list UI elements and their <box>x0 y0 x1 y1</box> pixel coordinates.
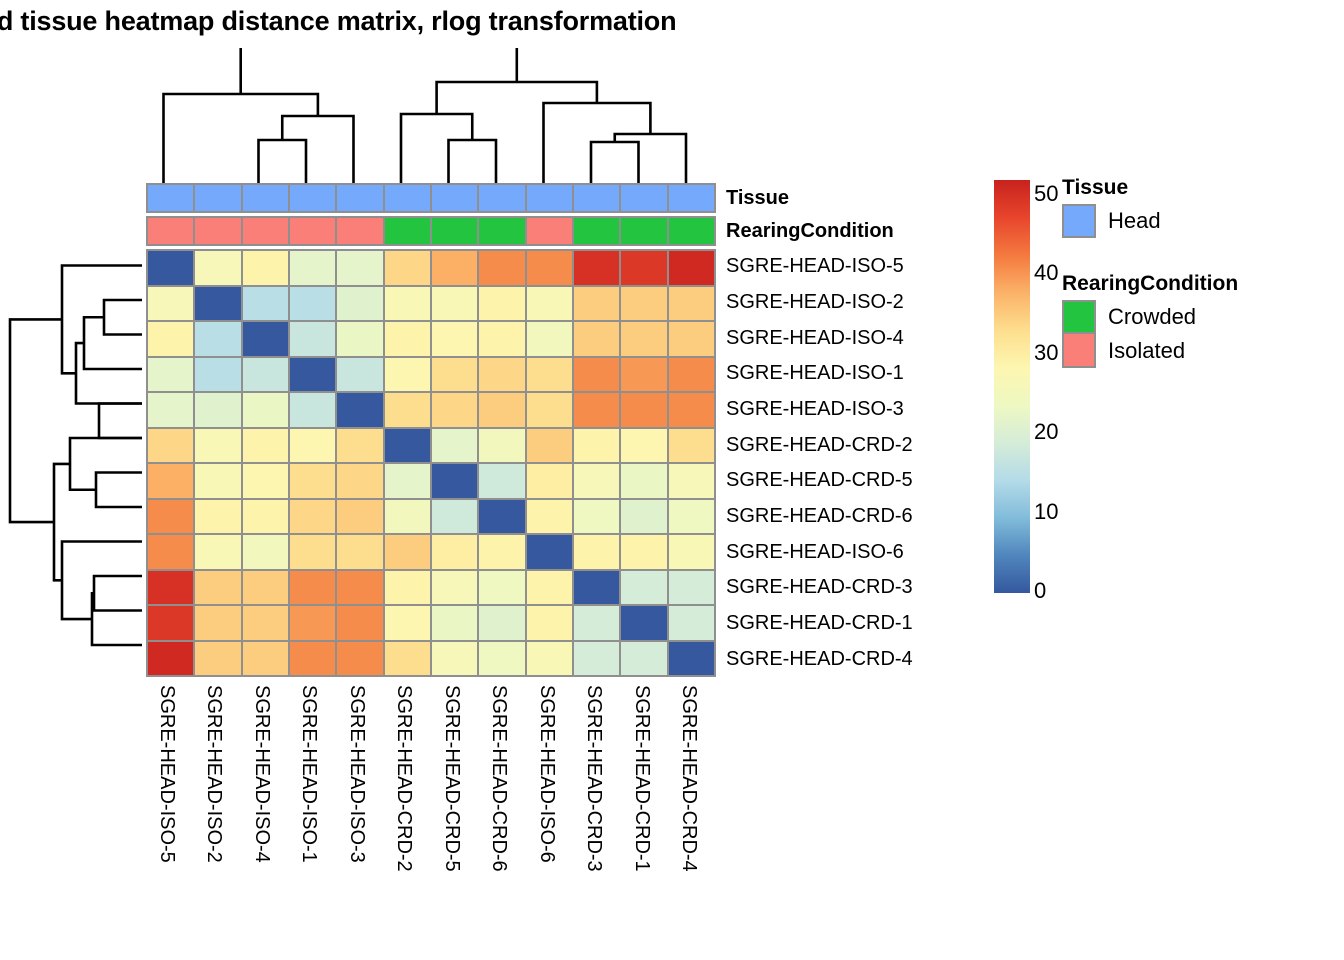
heatmap-cell[interactable] <box>337 429 382 463</box>
legend-swatch-head <box>1062 204 1096 238</box>
heatmap-cell[interactable] <box>385 464 430 498</box>
heatmap-cell[interactable] <box>574 606 619 640</box>
annotation-cell-tissue-1 <box>195 185 240 211</box>
annotation-cell-tissue-10 <box>621 185 666 211</box>
row-label: SGRE-HEAD-CRD-6 <box>726 499 1026 535</box>
heatmap-cell[interactable] <box>243 642 288 676</box>
legend-label-crowded: Crowded <box>1108 304 1196 330</box>
colorbar-tick-label: 50 <box>1034 181 1058 207</box>
heatmap-cell[interactable] <box>527 571 572 605</box>
annotation-cell-tissue-9 <box>574 185 619 211</box>
annotation-cell-tissue-2 <box>243 185 288 211</box>
heatmap-cell[interactable] <box>669 393 714 427</box>
colorbar <box>994 180 1030 593</box>
heatmap-cell[interactable] <box>337 500 382 534</box>
heatmap-cell[interactable] <box>385 322 430 356</box>
page-title: ad tissue heatmap distance matrix, rlog … <box>0 6 676 37</box>
heatmap-cell[interactable] <box>669 429 714 463</box>
annotation-bar-rearing-condition <box>146 216 716 246</box>
heatmap-cell[interactable] <box>195 287 240 321</box>
heatmap-cell[interactable] <box>290 464 335 498</box>
heatmap-cell[interactable] <box>337 535 382 569</box>
heatmap-cell[interactable] <box>290 251 335 285</box>
heatmap-cell[interactable] <box>385 606 430 640</box>
heatmap-cell[interactable] <box>243 322 288 356</box>
column-label-slot: SGRE-HEAD-ISO-4 <box>241 681 289 951</box>
annotation-cell-rearing-1 <box>195 218 240 244</box>
heatmap-cell[interactable] <box>527 322 572 356</box>
heatmap-cell[interactable] <box>527 251 572 285</box>
column-label: SGRE-HEAD-ISO-1 <box>297 685 320 863</box>
heatmap-cell[interactable] <box>337 464 382 498</box>
heatmap-cell[interactable] <box>527 358 572 392</box>
heatmap-cell[interactable] <box>432 535 477 569</box>
colorbar-tick-label: 20 <box>1034 419 1058 445</box>
annotation-cell-tissue-3 <box>290 185 335 211</box>
heatmap-cell[interactable] <box>479 464 524 498</box>
heatmap-cell[interactable] <box>290 393 335 427</box>
annotation-cell-rearing-0 <box>148 218 193 244</box>
heatmap-cell[interactable] <box>195 535 240 569</box>
heatmap-cell[interactable] <box>574 322 619 356</box>
heatmap-cell[interactable] <box>574 571 619 605</box>
heatmap-cell[interactable] <box>195 322 240 356</box>
heatmap-cell[interactable] <box>669 571 714 605</box>
heatmap-cell[interactable] <box>621 429 666 463</box>
heatmap-cell[interactable] <box>669 322 714 356</box>
row-label: SGRE-HEAD-ISO-3 <box>726 392 1026 428</box>
heatmap-cell[interactable] <box>337 287 382 321</box>
legend-tissue: Tissue Head <box>1062 176 1161 238</box>
heatmap-cell[interactable] <box>479 535 524 569</box>
row-label: SGRE-HEAD-CRD-3 <box>726 570 1026 606</box>
column-label-slot: SGRE-HEAD-ISO-6 <box>526 681 574 951</box>
heatmap-cell[interactable] <box>527 464 572 498</box>
heatmap-cell[interactable] <box>574 393 619 427</box>
row-label: SGRE-HEAD-ISO-5 <box>726 249 1026 285</box>
heatmap-cell[interactable] <box>385 251 430 285</box>
heatmap-cell[interactable] <box>669 251 714 285</box>
heatmap-cell[interactable] <box>621 571 666 605</box>
heatmap-cell[interactable] <box>148 500 193 534</box>
heatmap-cell[interactable] <box>621 606 666 640</box>
heatmap-cell[interactable] <box>148 429 193 463</box>
row-label: SGRE-HEAD-CRD-5 <box>726 463 1026 499</box>
colorbar-tick-label: 40 <box>1034 260 1058 286</box>
heatmap-cell[interactable] <box>432 642 477 676</box>
colorbar-ticks: 50403020100 <box>1034 180 1094 593</box>
heatmap-cell[interactable] <box>574 287 619 321</box>
legend-label-isolated: Isolated <box>1108 338 1185 364</box>
heatmap-cell[interactable] <box>337 358 382 392</box>
heatmap-cell[interactable] <box>432 393 477 427</box>
heatmap-cell[interactable] <box>527 606 572 640</box>
annotation-cell-rearing-7 <box>479 218 524 244</box>
annotation-cell-rearing-11 <box>669 218 714 244</box>
annotation-cell-tissue-6 <box>432 185 477 211</box>
column-label-slot: SGRE-HEAD-ISO-1 <box>289 681 337 951</box>
heatmap-cell[interactable] <box>432 251 477 285</box>
heatmap-cell[interactable] <box>479 393 524 427</box>
heatmap-cell[interactable] <box>574 500 619 534</box>
heatmap-cell[interactable] <box>195 464 240 498</box>
heatmap-cell[interactable] <box>290 429 335 463</box>
heatmap-cell[interactable] <box>527 500 572 534</box>
heatmap-cell[interactable] <box>385 642 430 676</box>
heatmap-cell[interactable] <box>385 535 430 569</box>
heatmap-cell[interactable] <box>574 251 619 285</box>
heatmap-cell[interactable] <box>290 500 335 534</box>
heatmap-cell[interactable] <box>195 606 240 640</box>
heatmap-cell[interactable] <box>621 500 666 534</box>
heatmap-cell[interactable] <box>621 642 666 676</box>
heatmap-cell[interactable] <box>479 429 524 463</box>
legend-swatch-isolated <box>1062 334 1096 368</box>
heatmap-cell[interactable] <box>243 500 288 534</box>
heatmap-cell[interactable] <box>148 535 193 569</box>
heatmap-cell[interactable] <box>148 464 193 498</box>
heatmap-cell[interactable] <box>243 358 288 392</box>
row-label: SGRE-HEAD-CRD-1 <box>726 606 1026 642</box>
heatmap-cell[interactable] <box>195 393 240 427</box>
heatmap-cell[interactable] <box>243 464 288 498</box>
legend-title-tissue: Tissue <box>1062 176 1161 200</box>
heatmap-cell[interactable] <box>432 571 477 605</box>
heatmap-cell[interactable] <box>527 393 572 427</box>
annotation-cell-rearing-3 <box>290 218 335 244</box>
column-label: SGRE-HEAD-ISO-4 <box>250 685 273 863</box>
heatmap-cell[interactable] <box>290 358 335 392</box>
heatmap-cell[interactable] <box>669 287 714 321</box>
legend-item-isolated[interactable]: Isolated <box>1062 334 1238 368</box>
column-label-slot: SGRE-HEAD-ISO-3 <box>336 681 384 951</box>
heatmap-cell[interactable] <box>243 287 288 321</box>
heatmap-cell[interactable] <box>148 287 193 321</box>
column-label-slot: SGRE-HEAD-CRD-3 <box>574 681 622 951</box>
heatmap-cell[interactable] <box>621 322 666 356</box>
annotation-label-rearing-condition: RearingCondition <box>726 220 894 243</box>
heatmap-cell[interactable] <box>621 251 666 285</box>
heatmap-cell[interactable] <box>574 358 619 392</box>
column-label: SGRE-HEAD-ISO-3 <box>345 685 368 863</box>
heatmap-cell[interactable] <box>669 606 714 640</box>
heatmap-cell[interactable] <box>621 358 666 392</box>
heatmap-cell[interactable] <box>527 642 572 676</box>
legend-item-crowded[interactable]: Crowded <box>1062 300 1238 334</box>
heatmap-cell[interactable] <box>479 571 524 605</box>
annotation-cell-rearing-10 <box>621 218 666 244</box>
heatmap-cell[interactable] <box>195 571 240 605</box>
annotation-label-tissue: Tissue <box>726 187 789 210</box>
heatmap-cell[interactable] <box>527 287 572 321</box>
column-label-slot: SGRE-HEAD-CRD-1 <box>621 681 669 951</box>
column-label: SGRE-HEAD-ISO-5 <box>155 685 178 863</box>
annotation-cell-rearing-4 <box>337 218 382 244</box>
annotation-cell-tissue-5 <box>385 185 430 211</box>
column-label: SGRE-HEAD-CRD-5 <box>440 685 463 872</box>
heatmap-cell[interactable] <box>148 642 193 676</box>
row-label: SGRE-HEAD-ISO-6 <box>726 534 1026 570</box>
colorbar-tick-label: 0 <box>1034 578 1046 604</box>
heatmap-cell[interactable] <box>290 535 335 569</box>
heatmap-cell[interactable] <box>243 429 288 463</box>
colorbar-tick-label: 30 <box>1034 340 1058 366</box>
heatmap-cell[interactable] <box>290 642 335 676</box>
heatmap-cell[interactable] <box>574 535 619 569</box>
column-label-slot: SGRE-HEAD-CRD-4 <box>669 681 717 951</box>
heatmap-cell[interactable] <box>479 358 524 392</box>
row-label: SGRE-HEAD-CRD-4 <box>726 641 1026 677</box>
heatmap-cell[interactable] <box>574 464 619 498</box>
annotation-cell-tissue-7 <box>479 185 524 211</box>
heatmap-cell[interactable] <box>479 287 524 321</box>
heatmap-cell[interactable] <box>527 535 572 569</box>
row-dendrogram <box>4 248 146 678</box>
annotation-cell-tissue-4 <box>337 185 382 211</box>
row-label: SGRE-HEAD-ISO-2 <box>726 285 1026 321</box>
heatmap-cell[interactable] <box>621 535 666 569</box>
heatmap-cell[interactable] <box>385 287 430 321</box>
heatmap-cell[interactable] <box>148 358 193 392</box>
heatmap-cell[interactable] <box>290 322 335 356</box>
heatmap-cell[interactable] <box>337 606 382 640</box>
annotation-cell-rearing-5 <box>385 218 430 244</box>
heatmap-cell[interactable] <box>148 322 193 356</box>
heatmap-cell[interactable] <box>195 500 240 534</box>
heatmap-cell[interactable] <box>148 571 193 605</box>
legend-swatch-crowded <box>1062 300 1096 334</box>
heatmap-cell[interactable] <box>385 500 430 534</box>
heatmap-cell[interactable] <box>337 571 382 605</box>
column-label: SGRE-HEAD-ISO-6 <box>535 685 558 863</box>
heatmap-cell[interactable] <box>243 393 288 427</box>
heatmap-cell[interactable] <box>432 322 477 356</box>
heatmap-cell[interactable] <box>669 464 714 498</box>
annotation-cell-rearing-9 <box>574 218 619 244</box>
annotation-cell-tissue-0 <box>148 185 193 211</box>
heatmap-cell[interactable] <box>337 322 382 356</box>
column-label: SGRE-HEAD-CRD-4 <box>677 685 700 872</box>
heatmap-cell[interactable] <box>479 251 524 285</box>
heatmap-cell[interactable] <box>432 500 477 534</box>
column-label-slot: SGRE-HEAD-ISO-5 <box>146 681 194 951</box>
row-label: SGRE-HEAD-CRD-2 <box>726 427 1026 463</box>
heatmap-grid[interactable] <box>146 249 716 677</box>
annotation-cell-rearing-6 <box>432 218 477 244</box>
annotation-cell-tissue-8 <box>527 185 572 211</box>
heatmap-cell[interactable] <box>669 535 714 569</box>
heatmap-cell[interactable] <box>195 429 240 463</box>
heatmap-cell[interactable] <box>669 358 714 392</box>
legend-item-head[interactable]: Head <box>1062 204 1161 238</box>
column-labels: SGRE-HEAD-ISO-5SGRE-HEAD-ISO-2SGRE-HEAD-… <box>146 681 716 951</box>
column-dendrogram <box>140 44 720 186</box>
heatmap-cell[interactable] <box>432 464 477 498</box>
heatmap-cell[interactable] <box>337 642 382 676</box>
colorbar-tick-label: 10 <box>1034 499 1058 525</box>
column-label-slot: SGRE-HEAD-ISO-2 <box>194 681 242 951</box>
heatmap-cell[interactable] <box>243 571 288 605</box>
heatmap-cell[interactable] <box>385 358 430 392</box>
legend-rearing-condition: RearingCondition Crowded Isolated <box>1062 272 1238 368</box>
heatmap-cell[interactable] <box>385 393 430 427</box>
row-label: SGRE-HEAD-ISO-4 <box>726 320 1026 356</box>
column-label: SGRE-HEAD-CRD-1 <box>630 685 653 872</box>
heatmap-cell[interactable] <box>337 251 382 285</box>
heatmap-cell[interactable] <box>432 358 477 392</box>
heatmap-cell[interactable] <box>243 606 288 640</box>
annotation-cell-rearing-8 <box>527 218 572 244</box>
annotation-bar-tissue <box>146 183 716 213</box>
heatmap-cell[interactable] <box>669 642 714 676</box>
heatmap-cell[interactable] <box>527 429 572 463</box>
heatmap-cell[interactable] <box>385 571 430 605</box>
heatmap-cell[interactable] <box>574 429 619 463</box>
annotation-cell-tissue-11 <box>669 185 714 211</box>
annotation-cell-rearing-2 <box>243 218 288 244</box>
heatmap-cell[interactable] <box>432 606 477 640</box>
heatmap-cell[interactable] <box>195 358 240 392</box>
heatmap-cell[interactable] <box>432 429 477 463</box>
colorbar-gradient <box>994 180 1030 593</box>
heatmap-cell[interactable] <box>479 322 524 356</box>
column-label: SGRE-HEAD-CRD-6 <box>487 685 510 872</box>
heatmap-cell[interactable] <box>148 393 193 427</box>
heatmap-cell[interactable] <box>243 535 288 569</box>
heatmap-cell[interactable] <box>479 606 524 640</box>
heatmap-cell[interactable] <box>195 642 240 676</box>
heatmap-cell[interactable] <box>432 287 477 321</box>
column-label-slot: SGRE-HEAD-CRD-2 <box>384 681 432 951</box>
column-label-slot: SGRE-HEAD-CRD-5 <box>431 681 479 951</box>
heatmap-cell[interactable] <box>243 251 288 285</box>
heatmap-cell[interactable] <box>290 606 335 640</box>
heatmap-cell[interactable] <box>574 642 619 676</box>
legend-label-head: Head <box>1108 208 1161 234</box>
heatmap-cell[interactable] <box>148 251 193 285</box>
heatmap-cell[interactable] <box>621 464 666 498</box>
heatmap-cell[interactable] <box>621 393 666 427</box>
column-label-slot: SGRE-HEAD-CRD-6 <box>479 681 527 951</box>
row-labels: SGRE-HEAD-ISO-5SGRE-HEAD-ISO-2SGRE-HEAD-… <box>726 249 1026 677</box>
column-label: SGRE-HEAD-CRD-2 <box>392 685 415 872</box>
heatmap-cell[interactable] <box>479 500 524 534</box>
column-label: SGRE-HEAD-ISO-2 <box>202 685 225 863</box>
column-label: SGRE-HEAD-CRD-3 <box>582 685 605 872</box>
heatmap-cell[interactable] <box>385 429 430 463</box>
heatmap-cell[interactable] <box>290 571 335 605</box>
heatmap-cell[interactable] <box>148 606 193 640</box>
heatmap-cell[interactable] <box>479 642 524 676</box>
row-label: SGRE-HEAD-ISO-1 <box>726 356 1026 392</box>
heatmap-cell[interactable] <box>290 287 335 321</box>
heatmap-cell[interactable] <box>669 500 714 534</box>
heatmap-cell[interactable] <box>337 393 382 427</box>
legend-title-rearing-condition: RearingCondition <box>1062 272 1238 296</box>
heatmap-cell[interactable] <box>621 287 666 321</box>
heatmap-cell[interactable] <box>195 251 240 285</box>
